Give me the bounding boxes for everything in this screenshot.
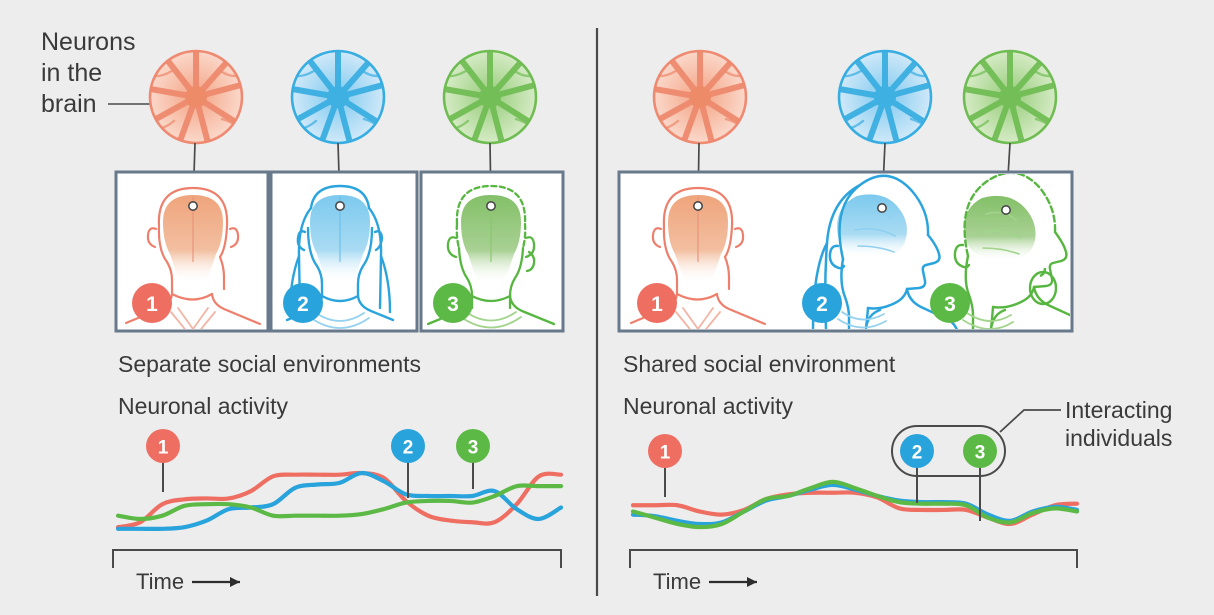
environment-label-right: Shared social environment [623,351,896,377]
neurons-label-line-2: in the [41,59,102,87]
recording-site-right-3 [1002,206,1010,214]
time-label-right: Time [653,569,701,594]
recording-site-left-1 [189,202,197,210]
interacting-individuals-label-line-2: individuals [1065,425,1172,451]
trace-badge-right-3-label: 3 [975,443,986,464]
neurons-label-line-3: brain [41,90,97,118]
recording-site-left-2 [336,202,344,210]
environment-label-left: Separate social environments [118,351,421,377]
badge-person-left-2-label: 2 [297,293,309,316]
trace-badge-right-2-label: 2 [912,443,923,464]
badge-person-right-3-label: 3 [944,293,956,316]
trace-badge-left-1-label: 1 [158,438,169,459]
activity-label-right: Neuronal activity [623,393,794,419]
recording-site-right-2 [878,204,886,212]
neurons-label-line-1: Neurons [41,28,136,56]
recording-site-left-3 [487,202,495,210]
trace-badge-left-2-label: 2 [403,438,414,459]
badge-person-right-2-label: 2 [816,293,828,316]
trace-badge-left-3-label: 3 [468,438,479,459]
figure-root: Neurons in the brain [0,0,1214,615]
recording-site-right-1 [694,202,702,210]
interacting-individuals-label-line-1: Interacting [1065,397,1172,423]
badge-person-left-3-label: 3 [447,293,459,316]
badge-person-right-1-label: 1 [651,293,663,316]
trace-badge-right-1-label: 1 [660,443,671,464]
badge-person-left-1-label: 1 [146,293,158,316]
time-label-left: Time [136,569,184,594]
activity-label-left: Neuronal activity [118,393,289,419]
